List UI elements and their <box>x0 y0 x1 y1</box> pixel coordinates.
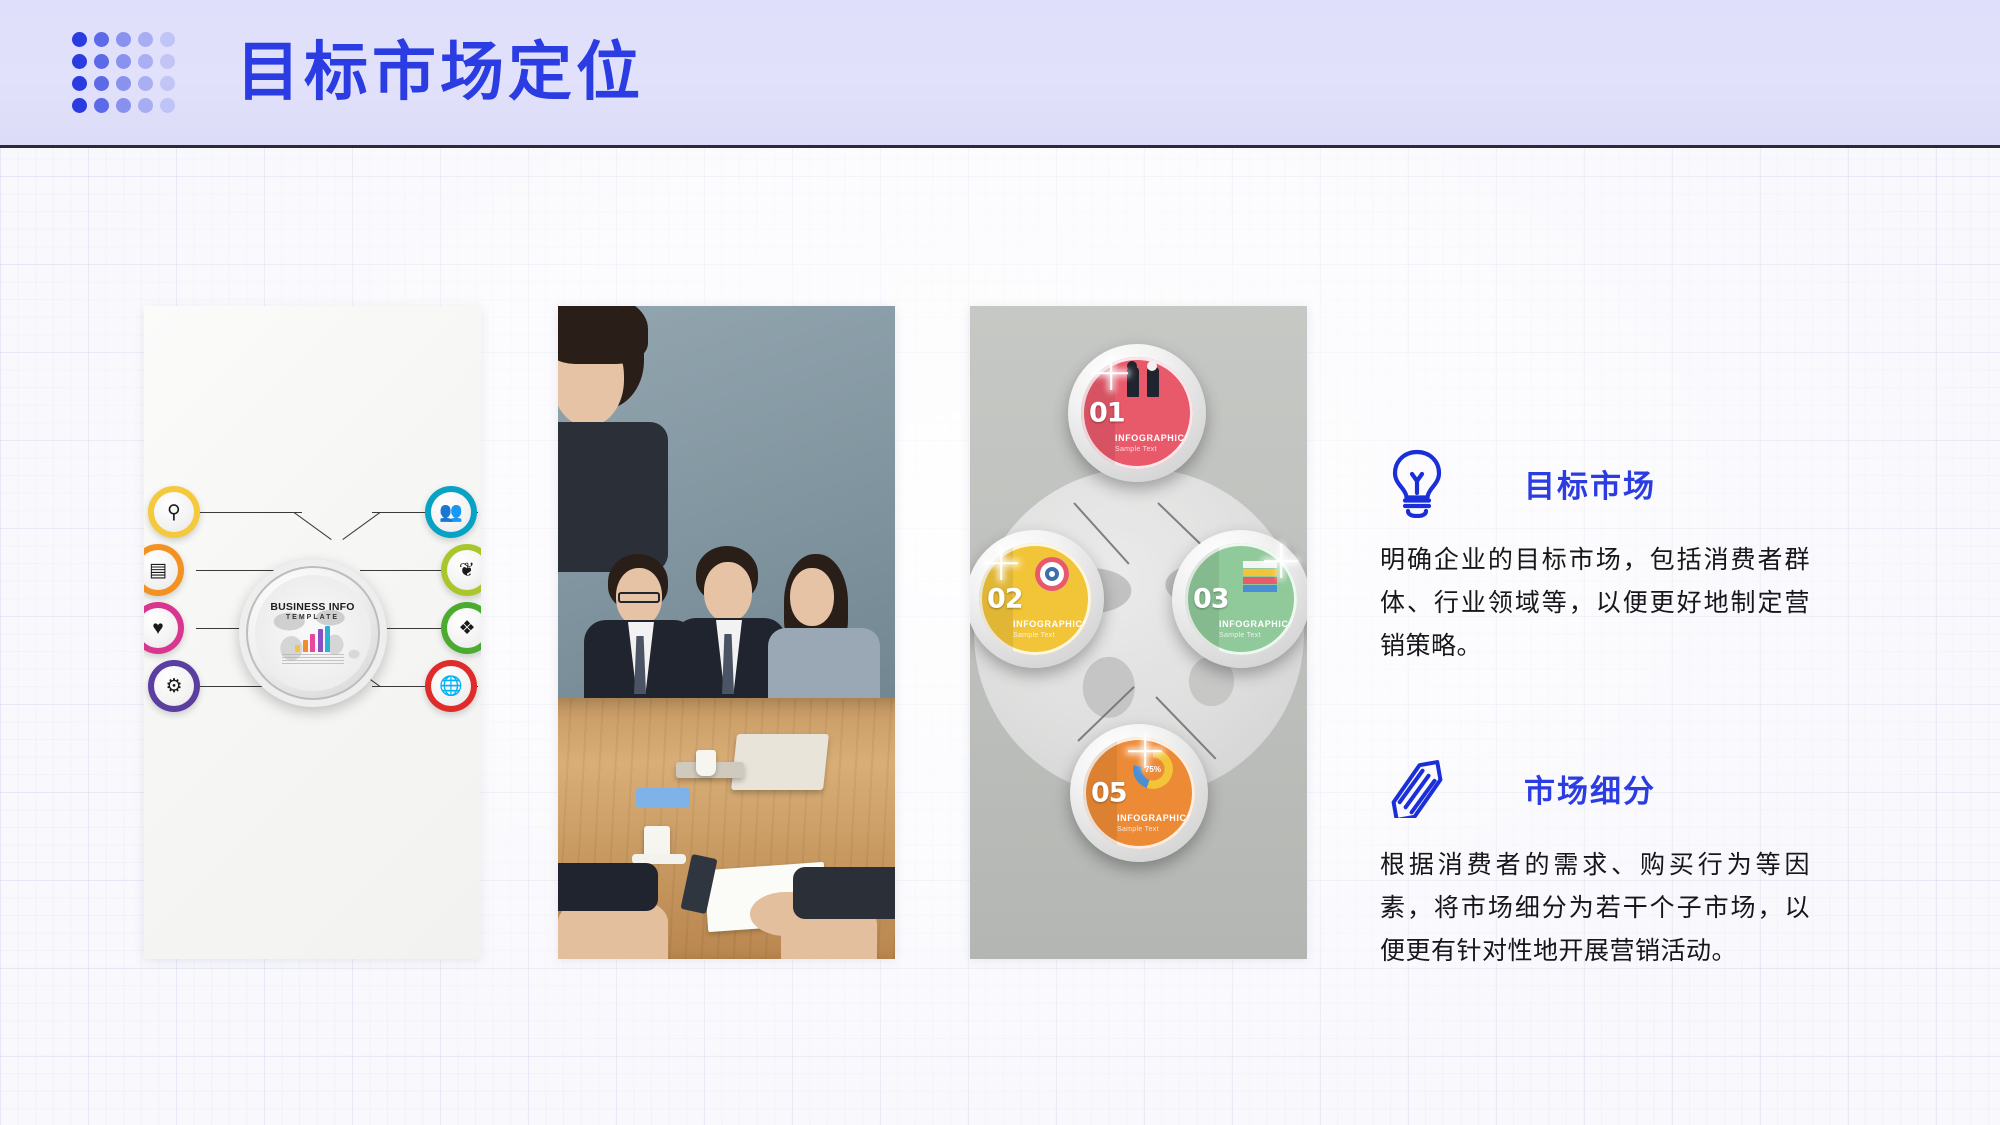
circle-label: INFOGRAPHICS <box>1013 619 1089 629</box>
circle-03-face: 03 INFOGRAPHICS Sample Text <box>1185 543 1297 655</box>
circle-number: 03 <box>1193 584 1229 615</box>
circle-number: 02 <box>987 584 1023 615</box>
circle-02[interactable]: 02 INFOGRAPHICS Sample Text <box>970 530 1104 668</box>
people-icon: 👥 <box>431 492 471 532</box>
donut-percent: 75% <box>1133 749 1173 789</box>
notebook-icon <box>636 788 690 808</box>
circle-sublabel: Sample Text <box>1115 446 1157 453</box>
sleeve <box>558 863 658 911</box>
panel-numbered-circles-infographic[interactable]: 01 INFOGRAPHICS Sample Text 02 INFOGRAPH… <box>970 306 1307 959</box>
circle-label: INFOGRAPHICS <box>1219 619 1295 629</box>
hub-subtitle: TEMPLATE <box>286 614 339 621</box>
chart-icon: ▤ <box>144 550 178 590</box>
circle-number: 01 <box>1089 398 1125 429</box>
dot-grid-decoration <box>68 29 178 117</box>
shield-icon: ❖ <box>447 608 481 648</box>
globe-icon: 🌐 <box>431 666 471 706</box>
target-icon <box>1035 557 1069 591</box>
info-body: 明确企业的目标市场，包括消费者群体、行业领域等，以便更好地制定营销策略。 <box>1380 538 1810 667</box>
page-title: 目标市场定位 <box>236 41 644 105</box>
info-header: 目标市场 <box>1380 446 1810 520</box>
business-people-icon <box>1127 367 1139 397</box>
node-people-icon[interactable]: 👥 <box>425 486 477 538</box>
hub-inner: BUSINESS INFO TEMPLATE <box>255 575 371 691</box>
person-head <box>1147 361 1157 371</box>
connector-line <box>294 512 332 540</box>
node-globe-icon[interactable]: 🌐 <box>425 660 477 712</box>
info-block-market-segmentation: 市场细分 根据消费者的需求、购买行为等因素，将市场细分为若干个子市场，以便更有针… <box>1380 751 1810 972</box>
glasses-icon <box>618 592 660 603</box>
circle-label: INFOGRAPHICS <box>1115 433 1191 443</box>
circle-02-face: 02 INFOGRAPHICS Sample Text <box>979 543 1091 655</box>
hub-bar-chart <box>295 626 330 652</box>
hub-caption-lines <box>282 654 344 665</box>
info-title: 市场细分 <box>1524 766 1656 811</box>
infographic-hub: BUSINESS INFO TEMPLATE <box>239 559 387 707</box>
person-body <box>558 422 668 572</box>
info-header: 市场细分 <box>1380 751 1810 825</box>
books-icon <box>1243 561 1277 568</box>
node-shield-icon[interactable]: ❖ <box>441 602 481 654</box>
circle-label: INFOGRAPHICS <box>1117 813 1193 823</box>
node-gear-icon[interactable]: ⚙ <box>148 660 200 712</box>
radial-infographic: ⚲ ▤ ♥ ⚙ 👥 ❦ ❖ 🌐 <box>144 306 481 959</box>
hub-title: BUSINESS INFO <box>270 601 354 613</box>
info-body: 根据消费者的需求、购买行为等因素，将市场细分为若干个子市场，以便更有针对性地开展… <box>1380 843 1810 972</box>
node-heart-icon[interactable]: ♥ <box>144 602 184 654</box>
circle-sublabel: Sample Text <box>1219 632 1261 639</box>
person-body <box>1147 367 1159 397</box>
leaf-icon: ❦ <box>447 550 481 590</box>
circle-sublabel: Sample Text <box>1117 826 1159 833</box>
node-leaf-icon[interactable]: ❦ <box>441 544 481 596</box>
info-block-target-market: 目标市场 明确企业的目标市场，包括消费者群体、行业领域等，以便更好地制定营销策略… <box>1380 446 1810 667</box>
person-hair <box>558 306 648 364</box>
circle-sublabel: Sample Text <box>1013 632 1055 639</box>
numbered-circles-infographic: 01 INFOGRAPHICS Sample Text 02 INFOGRAPH… <box>970 306 1307 959</box>
person-head <box>1127 361 1137 371</box>
lightbulb-icon <box>1380 446 1454 520</box>
circle-number: 05 <box>1091 778 1127 809</box>
connector-line <box>342 512 380 540</box>
circle-05-face: 75% 05 INFOGRAPHICS Sample Text <box>1083 737 1195 849</box>
gear-icon: ⚙ <box>154 666 194 706</box>
meeting-photo <box>558 306 895 959</box>
person-face <box>704 562 752 622</box>
panel-business-info-infographic[interactable]: ⚲ ▤ ♥ ⚙ 👥 ❦ ❖ 🌐 <box>144 306 481 959</box>
pencil-icon <box>1380 751 1454 825</box>
circle-03[interactable]: 03 INFOGRAPHICS Sample Text <box>1172 530 1307 668</box>
laptop-icon <box>731 734 829 790</box>
node-chart-icon[interactable]: ▤ <box>144 544 184 596</box>
info-title: 目标市场 <box>1524 461 1656 506</box>
circle-01-face: 01 INFOGRAPHICS Sample Text <box>1081 357 1193 469</box>
connector-line <box>196 512 302 513</box>
circle-01[interactable]: 01 INFOGRAPHICS Sample Text <box>1068 344 1206 482</box>
panel-meeting-photo[interactable] <box>558 306 895 959</box>
info-column: 目标市场 明确企业的目标市场，包括消费者群体、行业领域等，以便更好地制定营销策略… <box>1380 446 1810 972</box>
slide-header: 目标市场定位 <box>0 0 2000 148</box>
heart-icon: ♥ <box>144 608 178 648</box>
circle-05[interactable]: 75% 05 INFOGRAPHICS Sample Text <box>1070 724 1208 862</box>
person-face <box>790 568 834 626</box>
sleeve <box>793 867 895 919</box>
coffee-cup-icon <box>696 750 716 776</box>
node-search-icon[interactable]: ⚲ <box>148 486 200 538</box>
search-icon: ⚲ <box>154 492 194 532</box>
slide-body: ⚲ ▤ ♥ ⚙ 👥 ❦ ❖ 🌐 <box>0 148 2000 1125</box>
